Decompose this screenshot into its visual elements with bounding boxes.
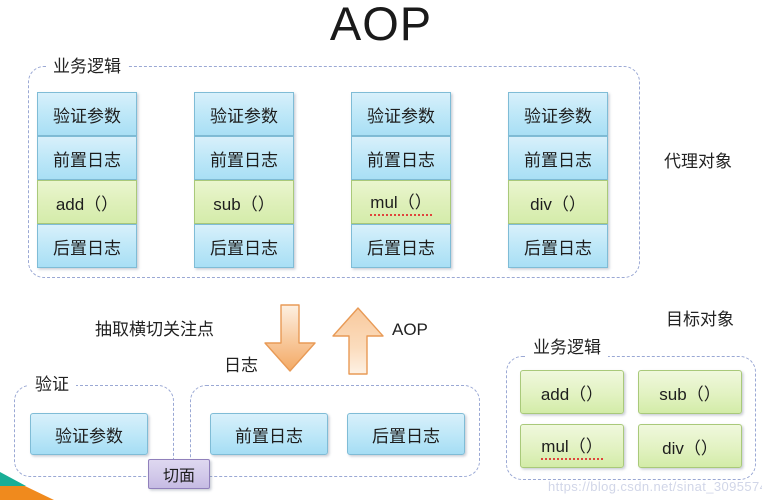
proxy-cell-before-log: 前置日志 bbox=[508, 136, 608, 180]
up-arrow-icon bbox=[330, 305, 386, 377]
logging-group-label: 日志 bbox=[217, 356, 265, 376]
business-logic-group-bottom-label: 业务逻辑 bbox=[526, 338, 608, 358]
logging-box-before-log: 前置日志 bbox=[210, 413, 328, 455]
target-method-mul: mul（） bbox=[520, 424, 624, 468]
proxy-cell-after-log: 后置日志 bbox=[37, 224, 137, 268]
proxy-cell-before-log: 前置日志 bbox=[37, 136, 137, 180]
proxy-cell-validate: 验证参数 bbox=[194, 92, 294, 136]
target-method-mul-text: mul（） bbox=[541, 432, 602, 460]
target-object-label: 目标对象 bbox=[666, 310, 734, 330]
target-method-sub: sub（） bbox=[638, 370, 742, 414]
proxy-column-mul: 验证参数 前置日志 mul（） 后置日志 bbox=[351, 92, 451, 268]
target-method-add: add（） bbox=[520, 370, 624, 414]
proxy-object-label: 代理对象 bbox=[664, 152, 732, 172]
proxy-cell-before-log: 前置日志 bbox=[194, 136, 294, 180]
proxy-column-sub: 验证参数 前置日志 sub（） 后置日志 bbox=[194, 92, 294, 268]
aspect-badge: 切面 bbox=[148, 459, 210, 489]
target-method-div: div（） bbox=[638, 424, 742, 468]
proxy-cell-method: mul（） bbox=[351, 180, 451, 224]
page-title: AOP bbox=[0, 0, 762, 52]
proxy-cell-after-log: 后置日志 bbox=[351, 224, 451, 268]
validation-box-validate-params: 验证参数 bbox=[30, 413, 148, 455]
business-logic-group-top-label: 业务逻辑 bbox=[46, 57, 128, 77]
proxy-cell-method: sub（） bbox=[194, 180, 294, 224]
diagram-canvas: AOP 业务逻辑 代理对象 验证参数 前置日志 add（） 后置日志 验证参数 … bbox=[0, 0, 762, 500]
proxy-cell-method: add（） bbox=[37, 180, 137, 224]
proxy-cell-method: div（） bbox=[508, 180, 608, 224]
proxy-cell-before-log: 前置日志 bbox=[351, 136, 451, 180]
proxy-column-div: 验证参数 前置日志 div（） 后置日志 bbox=[508, 92, 608, 268]
watermark-text: https://blog.csdn.net/sinat_30955745 bbox=[548, 479, 762, 494]
orange-corner-decoration bbox=[0, 474, 54, 500]
aop-arrow-label: AOP bbox=[392, 320, 428, 340]
logging-box-after-log: 后置日志 bbox=[347, 413, 465, 455]
proxy-cell-validate: 验证参数 bbox=[37, 92, 137, 136]
down-arrow-icon bbox=[262, 303, 318, 375]
proxy-column-add: 验证参数 前置日志 add（） 后置日志 bbox=[37, 92, 137, 268]
proxy-cell-validate: 验证参数 bbox=[351, 92, 451, 136]
proxy-cell-validate: 验证参数 bbox=[508, 92, 608, 136]
validation-group-label: 验证 bbox=[28, 375, 76, 395]
proxy-cell-after-log: 后置日志 bbox=[508, 224, 608, 268]
extract-concerns-label: 抽取横切关注点 bbox=[95, 320, 214, 340]
proxy-cell-after-log: 后置日志 bbox=[194, 224, 294, 268]
proxy-cell-method-text: mul（） bbox=[370, 188, 431, 216]
